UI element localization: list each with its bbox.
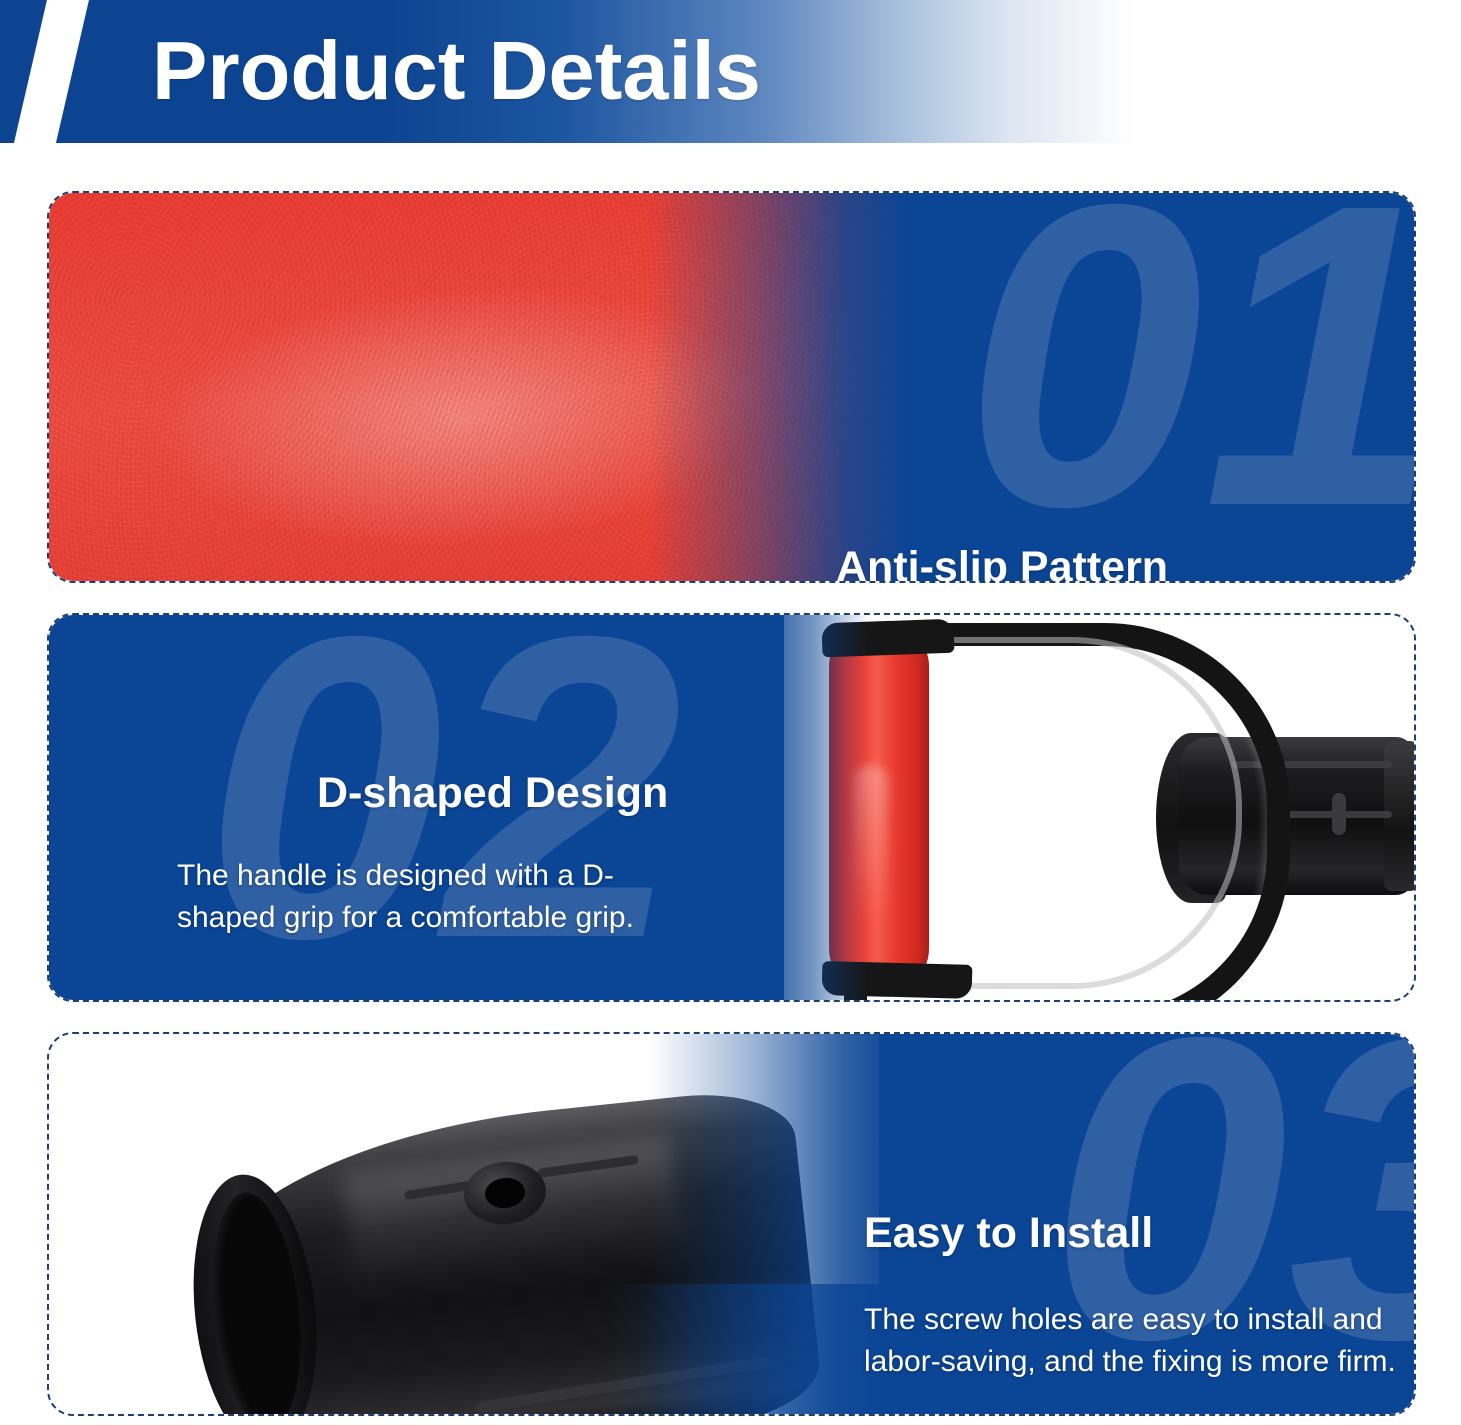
feature-card-01: 01 Anti-slip Pattern The surface imitati… xyxy=(47,191,1416,583)
card-01-headline: Anti-slip Pattern xyxy=(836,541,1168,581)
feature-card-03: 03 Easy to Install The screw holes are e… xyxy=(47,1032,1416,1416)
card-03-headline: Easy to Install xyxy=(864,1207,1153,1259)
card-03-body: The screw holes are easy to install and … xyxy=(864,1299,1414,1383)
card-02-photo-edge-fade xyxy=(749,615,869,1000)
feature-card-03-inner: 03 Easy to Install The screw holes are e… xyxy=(49,1034,1414,1414)
card-01-blue-fade xyxy=(649,193,909,581)
feature-card-01-inner: 01 Anti-slip Pattern The surface imitati… xyxy=(49,193,1414,581)
page-header: Product Details xyxy=(0,0,1461,143)
card-01-watermark-number: 01 xyxy=(964,193,1414,571)
card-02-body-line-2: shaped grip for a comfortable grip. xyxy=(177,901,634,934)
d-shaped-handle-photo xyxy=(784,615,1414,1000)
card-02-body-line-1: The handle is designed with a D- xyxy=(177,859,614,892)
card-03-body-line-1: The screw holes are easy to install and xyxy=(864,1303,1383,1336)
feature-card-02-inner: 02 D-shaped Design The handle is designe… xyxy=(49,615,1414,1000)
card-02-body: The handle is designed with a D- shaped … xyxy=(177,855,797,939)
feature-card-02: 02 D-shaped Design The handle is designe… xyxy=(47,613,1416,1002)
card-02-headline: D-shaped Design xyxy=(317,767,668,819)
card-03-body-line-2: labor-saving, and the fixing is more fir… xyxy=(864,1345,1396,1378)
page-title: Product Details xyxy=(152,19,761,123)
